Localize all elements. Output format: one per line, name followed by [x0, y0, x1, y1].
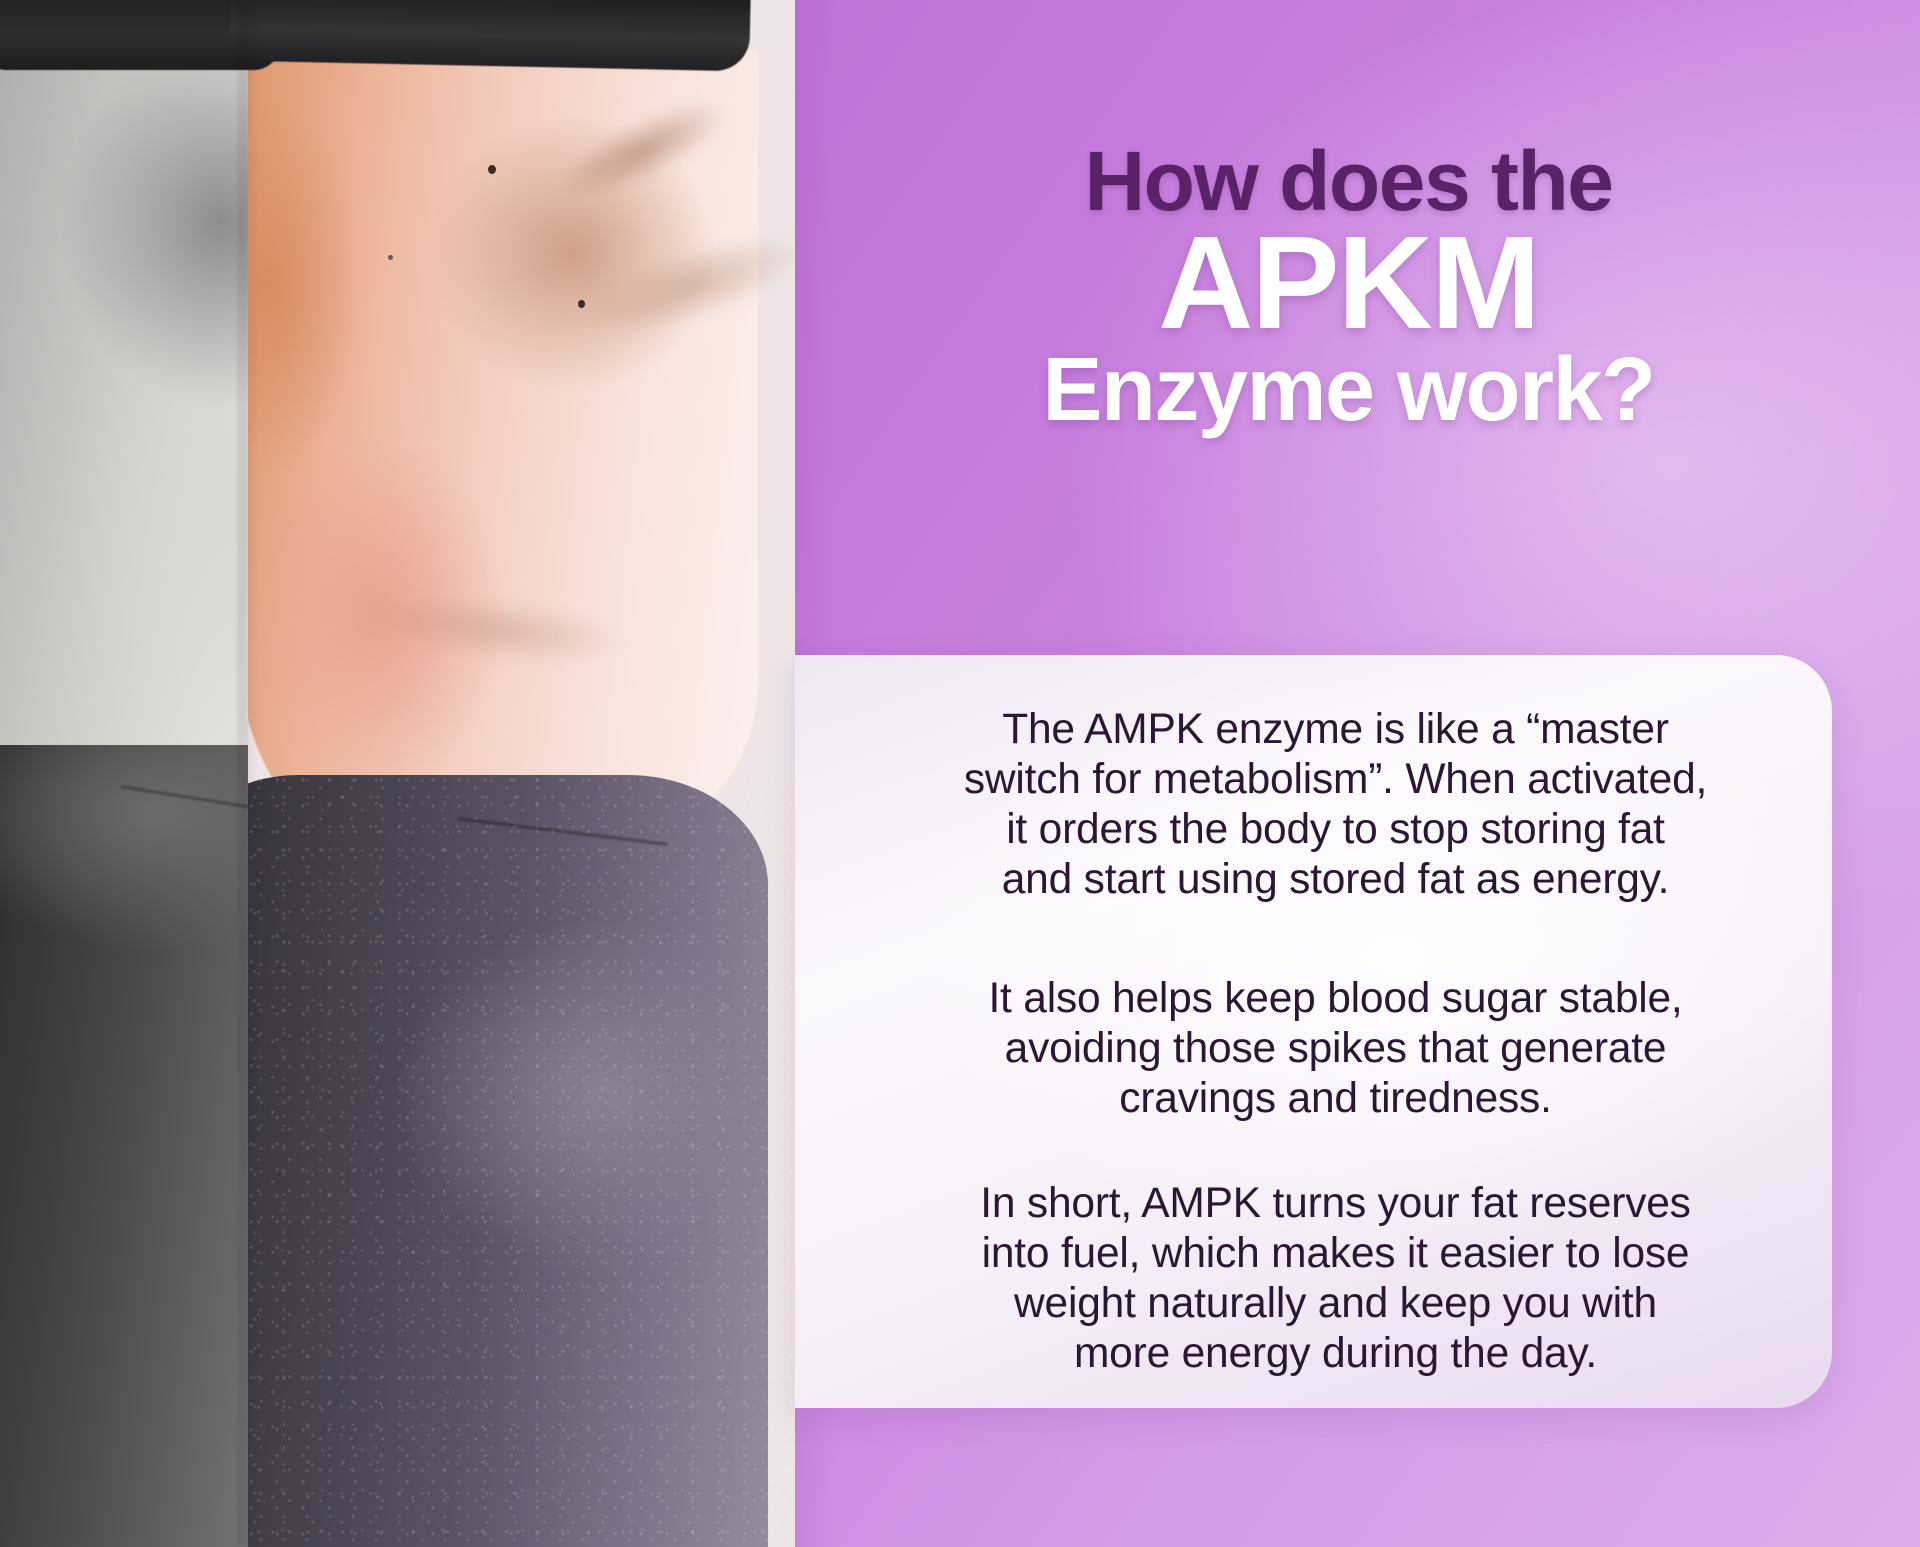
explanation-card: The AMPK enzyme is like a “master switch… [795, 655, 1832, 1408]
torso-grayscale [0, 55, 248, 815]
headline-line-3: Enzyme work? [795, 345, 1902, 435]
card-text-container: The AMPK enzyme is like a “master switch… [795, 705, 1832, 1380]
skin-mole-2 [578, 300, 585, 308]
sweatpants-texture [248, 775, 795, 1547]
paragraph-2: It also helps keep blood sugar stable, a… [891, 974, 1780, 1124]
waistband-color [229, 0, 751, 71]
before-side-grayscale [0, 0, 248, 1547]
torso-color [248, 50, 758, 830]
sweatpants-grayscale [0, 745, 248, 1547]
paragraph-3: In short, AMPK turns your fat reserves i… [891, 1179, 1780, 1380]
before-after-torso-photo [0, 0, 795, 1547]
headline-line-2-apkm: APKM [795, 216, 1902, 351]
after-side-color [248, 0, 795, 1547]
headline-block: How does the APKM Enzyme work? [795, 140, 1920, 435]
promo-poster: How does the APKM Enzyme work? The AMPK … [0, 0, 1920, 1547]
skin-mole-3 [388, 255, 393, 260]
skin-mole-1 [488, 165, 496, 174]
paragraph-1: The AMPK enzyme is like a “master switch… [891, 705, 1780, 906]
before-after-split-seam [238, 0, 258, 1547]
